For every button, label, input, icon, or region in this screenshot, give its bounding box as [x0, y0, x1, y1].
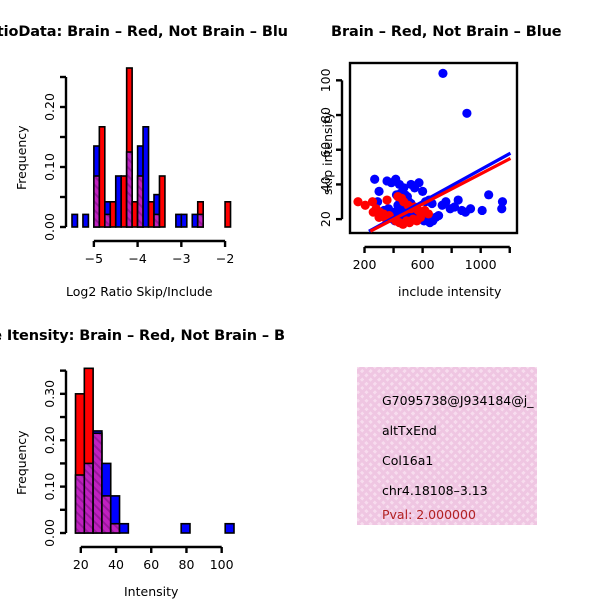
scatter-point — [374, 213, 383, 222]
panel-title-include-intensity: ne Itensity: Brain – Red, Not Brain – B — [0, 328, 285, 344]
y-tick-label: 0.00 — [42, 213, 57, 241]
x-tick-label: 60 — [143, 557, 159, 572]
histogram-bar — [72, 214, 77, 227]
y-tick-label: 0.10 — [42, 153, 57, 181]
histogram-bar-overlap — [76, 475, 85, 533]
x-tick-label: −3 — [172, 251, 190, 266]
scatter-point — [414, 178, 423, 187]
x-tick-label: −5 — [85, 251, 103, 266]
scatter-point — [370, 175, 379, 184]
scatter-point — [438, 69, 447, 78]
histogram-bar — [99, 127, 104, 227]
scatter-point — [418, 187, 427, 196]
scatter-point — [466, 204, 475, 213]
x-tick-label: 200 — [353, 257, 377, 272]
annotation-line-locus: chr4.18108–3.13 — [382, 483, 488, 498]
histogram-bar — [132, 202, 137, 227]
histogram-bar-overlap — [94, 176, 99, 227]
axis-label-intensity-x: Intensity — [124, 584, 178, 599]
scatter-point — [424, 209, 433, 218]
annotation-line-pval: Pval: 2.000000 — [382, 507, 476, 522]
histogram-bar — [225, 524, 234, 533]
histogram-bar-overlap — [84, 463, 93, 533]
histogram-bar-overlap — [198, 214, 203, 227]
histogram-bar — [176, 214, 181, 227]
scatter-point — [462, 109, 471, 118]
scatter-point — [454, 195, 463, 204]
include-intensity-histogram-plot: 204060801000.000.100.200.30 — [0, 358, 300, 608]
histogram-bar — [116, 176, 121, 227]
histogram-bar-overlap — [105, 214, 110, 227]
histogram-bar — [149, 202, 154, 227]
histogram-bar-overlap — [93, 433, 102, 533]
scatter-point — [484, 190, 493, 199]
x-tick-label: 80 — [179, 557, 195, 572]
log2-ratio-histogram-plot: −5−4−3−20.000.100.20 — [0, 55, 300, 305]
y-tick-label: 0.10 — [42, 473, 57, 501]
histogram-bar-overlap — [102, 496, 111, 533]
x-tick-label: −2 — [216, 251, 234, 266]
y-tick-label: 0.00 — [42, 519, 57, 547]
scatter-point — [434, 211, 443, 220]
histogram-bar — [83, 214, 88, 227]
histogram-bar — [143, 127, 148, 227]
x-tick-label: 20 — [73, 557, 89, 572]
annotation-line-gene: Col16a1 — [382, 453, 433, 468]
annotation-line-event-type: altTxEnd — [382, 423, 437, 438]
annotation-line-id: G7095738@J934184@j_ — [382, 393, 537, 408]
histogram-bar — [225, 202, 230, 227]
panel-include-intensity-histogram: ne Itensity: Brain – Red, Not Brain – B … — [0, 300, 300, 600]
axis-label-intensity-y: Frequency — [14, 430, 29, 495]
histogram-bar — [159, 176, 164, 227]
panel-intensity-scatter: Brain – Red, Not Brain – Blue 2006001000… — [300, 0, 600, 310]
histogram-bar — [192, 214, 197, 227]
scatter-point — [382, 195, 391, 204]
x-tick-label: 40 — [108, 557, 124, 572]
histogram-bar — [181, 524, 190, 533]
histogram-bar-overlap — [154, 214, 159, 227]
scatter-point — [498, 197, 507, 206]
histogram-bar — [120, 524, 129, 533]
axis-label-log2-ratio-x: Log2 Ratio Skip/Include — [66, 284, 213, 299]
y-tick-label: 0.20 — [42, 426, 57, 454]
histogram-bar — [110, 202, 115, 227]
annotation-box: G7095738@J934184@j_ altTxEnd Col16a1 chr… — [357, 367, 537, 525]
histogram-bar-overlap — [138, 176, 143, 227]
x-tick-label: 1000 — [465, 257, 497, 272]
x-tick-label: 600 — [411, 257, 435, 272]
x-tick-label: −4 — [128, 251, 146, 266]
scatter-point — [416, 213, 425, 222]
scatter-point — [374, 187, 383, 196]
axis-label-scatter-x: include intensity — [398, 284, 501, 299]
histogram-bar — [181, 214, 186, 227]
panel-title-log2-ratio: RatioData: Brain – Red, Not Brain – Blu — [0, 24, 288, 40]
panel-title-scatter: Brain – Red, Not Brain – Blue — [331, 24, 562, 40]
y-tick-label: 0.20 — [42, 93, 57, 121]
scatter-point — [478, 206, 487, 215]
intensity-scatter-plot: 200600100020406080100 — [300, 55, 600, 305]
histogram-bar-overlap — [127, 152, 132, 227]
y-tick-label: 0.30 — [42, 380, 57, 408]
histogram-bar — [121, 176, 126, 227]
y-tick-label: 20 — [318, 211, 333, 227]
y-tick-label: 100 — [318, 68, 333, 92]
histogram-bar-overlap — [111, 524, 120, 533]
panel-log2-ratio-histogram: RatioData: Brain – Red, Not Brain – Blu … — [0, 0, 300, 310]
x-tick-label: 100 — [210, 557, 234, 572]
axis-label-scatter-y: skip intensity — [320, 112, 335, 195]
axis-label-log2-ratio-y: Frequency — [14, 125, 29, 190]
